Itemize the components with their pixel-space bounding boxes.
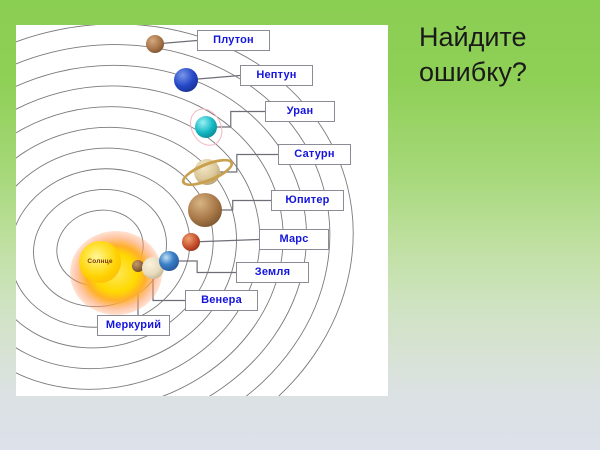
planet-8	[146, 35, 164, 53]
slide-canvas: Солнце МеркурийВенераЗемляМарсЮпитерСату…	[0, 0, 600, 450]
planet-label-2[interactable]: Земля	[236, 262, 309, 283]
page-title: Найдите ошибку?	[419, 20, 589, 90]
planet-label-4[interactable]: Юпитер	[271, 190, 344, 211]
planet-label-3[interactable]: Марс	[259, 229, 329, 250]
planet-label-5[interactable]: Сатурн	[278, 144, 351, 165]
planet-label-8[interactable]: Плутон	[197, 30, 270, 51]
planet-3	[182, 233, 200, 251]
planet-label-0[interactable]: Меркурий	[97, 315, 170, 336]
planet-7	[174, 68, 198, 92]
planet-6	[195, 116, 217, 138]
solar-system-diagram: Солнце МеркурийВенераЗемляМарсЮпитерСату…	[16, 25, 388, 396]
sun-label: Солнце	[80, 258, 120, 265]
planet-label-1[interactable]: Венера	[185, 290, 258, 311]
planet-label-7[interactable]: Нептун	[240, 65, 313, 86]
planet-2	[159, 251, 179, 271]
planet-label-6[interactable]: Уран	[265, 101, 335, 122]
planet-4	[188, 193, 222, 227]
planet-5	[194, 159, 220, 185]
